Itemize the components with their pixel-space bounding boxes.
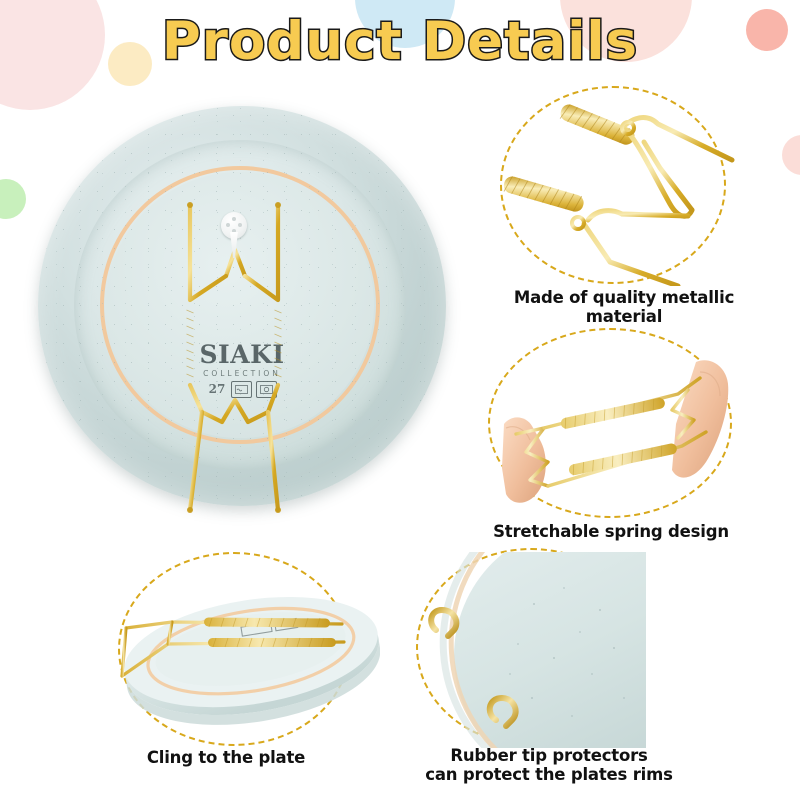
hanger-clinging-plate-side-photo (112, 552, 380, 748)
page-title: Product Details (162, 14, 638, 70)
green-circle-left (0, 179, 26, 219)
panel-rubber-tip: Rubber tip protectors can protect the pl… (414, 548, 682, 748)
infographic-canvas: Product Details SIAKI COLLECTION 27 (0, 0, 800, 800)
page-title-container: Product Details (0, 14, 800, 70)
hook-detail-dot (238, 223, 242, 227)
spring-hanger-closeup-photo (492, 86, 748, 286)
hook-detail-dot (226, 223, 230, 227)
caption-cling-to-plate: Cling to the plate (92, 748, 360, 767)
hook-detail-dot (232, 217, 236, 221)
caption-stretchable-spring: Stretchable spring design (478, 522, 744, 541)
panel-stretchable-spring: Stretchable spring design (482, 328, 740, 520)
rubber-tip-on-plate-rim-photo (414, 548, 682, 748)
pink-circle-right-edge (782, 135, 800, 175)
gold-wire-hanger (30, 100, 470, 520)
hands-stretching-hanger-photo (482, 328, 740, 520)
panel-metallic-material: Made of quality metallic material (492, 86, 748, 286)
white-plastic-hook (221, 212, 247, 258)
caption-rubber-tip: Rubber tip protectors can protect the pl… (420, 746, 678, 785)
panel-cling-to-plate: Cling to the plate (112, 552, 380, 748)
hero-plate-photo: SIAKI COLLECTION 27 (30, 100, 470, 520)
caption-metallic-material: Made of quality metallic material (480, 288, 768, 327)
